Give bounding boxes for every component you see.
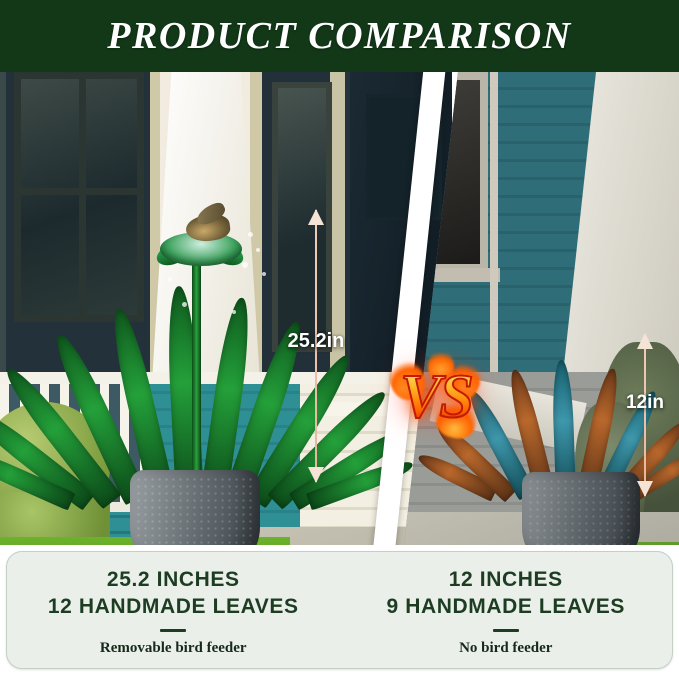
spec-divider [493, 629, 519, 632]
left-feeder-stem [192, 258, 201, 488]
vs-badge: VS [388, 354, 484, 440]
spec-column-left: 25.2 INCHES 12 HANDMADE LEAVES Removable… [7, 552, 340, 668]
water-droplet [182, 302, 187, 307]
water-droplet [242, 262, 248, 268]
spec-leaves: 12 HANDMADE LEAVES [48, 594, 299, 620]
left-window-narrow [272, 82, 332, 352]
water-droplet [168, 277, 172, 281]
spec-size: 12 INCHES [449, 567, 563, 593]
comparison-photo-stage: 25.2in 12in VS [0, 72, 679, 545]
product-comparison-page: PRODUCT COMPARISON [0, 0, 679, 676]
spec-note: No bird feeder [459, 640, 552, 657]
left-planter-pot [130, 470, 260, 545]
water-droplet [256, 248, 260, 252]
spec-leaves: 9 HANDMADE LEAVES [386, 594, 625, 620]
spec-panel: 25.2 INCHES 12 HANDMADE LEAVES Removable… [6, 551, 673, 669]
header-banner: PRODUCT COMPARISON [0, 0, 679, 72]
water-droplet [248, 232, 253, 237]
spec-divider [160, 629, 186, 632]
vs-label: VS [400, 366, 472, 428]
spec-column-right: 12 INCHES 9 HANDMADE LEAVES No bird feed… [340, 552, 673, 668]
page-title: PRODUCT COMPARISON [107, 14, 571, 58]
window-rail [21, 188, 137, 195]
window-mullion [79, 79, 86, 315]
right-corner-trim [490, 72, 498, 372]
water-droplet [232, 310, 236, 314]
water-droplet [262, 272, 266, 276]
left-door-panel [366, 94, 442, 220]
right-planter-pot [522, 472, 640, 545]
left-product-photo [0, 72, 452, 545]
left-window-large [14, 72, 144, 322]
spec-note: Removable bird feeder [100, 640, 247, 657]
spec-size: 25.2 INCHES [107, 567, 240, 593]
